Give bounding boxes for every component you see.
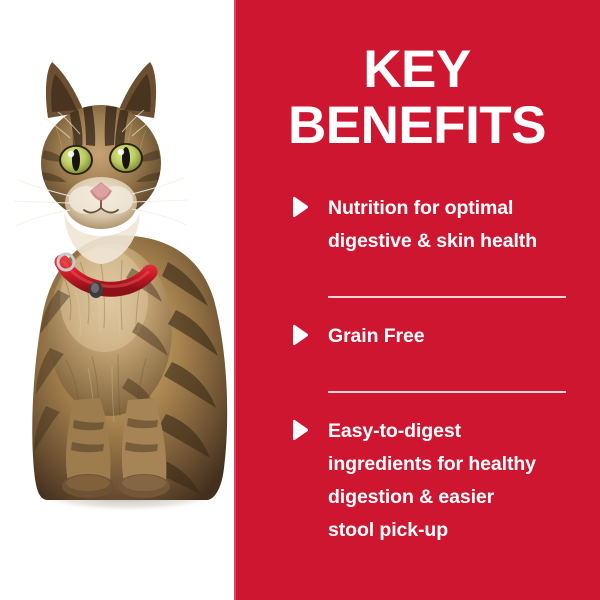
- triangle-right-icon: [288, 418, 312, 442]
- cat-body: [32, 236, 227, 500]
- page-title: KEY BENEFITS: [234, 42, 600, 154]
- benefit-text-2: Grain Free: [328, 320, 588, 353]
- benefit-item-3: Easy-to-digest ingredients for healthy d…: [288, 415, 588, 547]
- benefit-3-line-1: Easy-to-digest: [328, 415, 588, 448]
- benefit-1-line-2: digestive & skin health: [328, 225, 588, 258]
- benefit-text-3: Easy-to-digest ingredients for healthy d…: [328, 415, 588, 547]
- benefit-1-line-1: Nutrition for optimal: [328, 192, 588, 225]
- benefit-divider-1: [328, 296, 566, 298]
- benefit-text-1: Nutrition for optimal digestive & skin h…: [328, 192, 588, 258]
- benefit-item-1: Nutrition for optimal digestive & skin h…: [288, 192, 588, 258]
- benefit-3-line-3: digestion & easier: [328, 481, 588, 514]
- triangle-right-icon: [288, 195, 312, 219]
- triangle-right-icon: [288, 323, 312, 347]
- cat-photo-panel: [0, 0, 234, 600]
- benefit-3-line-2: ingredients for healthy: [328, 448, 588, 481]
- page-title-line-2: BENEFITS: [234, 98, 600, 154]
- key-benefits-panel: KEY BENEFITS Nutrition for optimal diges…: [0, 0, 600, 600]
- cat-eye-left: [59, 145, 93, 175]
- cat-photo-image: [0, 0, 234, 600]
- benefit-divider-2: [328, 391, 566, 393]
- benefits-list: Nutrition for optimal digestive & skin h…: [288, 192, 588, 547]
- cat-eye-right: [109, 143, 143, 173]
- benefit-2-line-1: Grain Free: [328, 320, 588, 353]
- benefit-3-line-4: stool pick-up: [328, 514, 588, 547]
- benefits-red-panel: KEY BENEFITS Nutrition for optimal diges…: [234, 0, 600, 600]
- benefit-item-2: Grain Free: [288, 320, 588, 353]
- page-title-line-1: KEY: [234, 42, 600, 98]
